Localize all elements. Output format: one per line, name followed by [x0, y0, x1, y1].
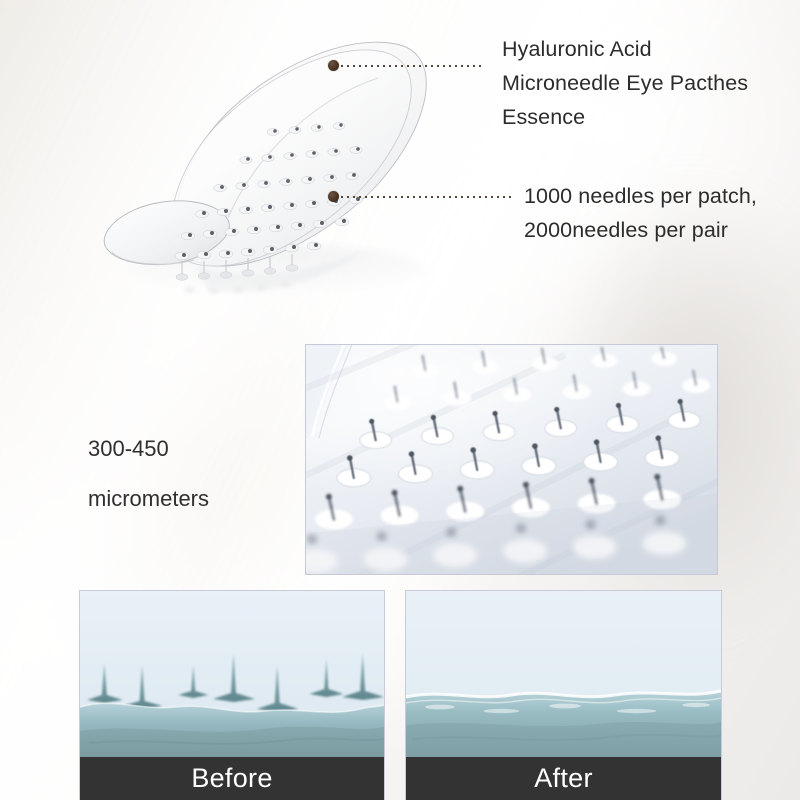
after-scene: [406, 591, 721, 757]
after-label: After: [534, 765, 593, 792]
callout-text-product-name: Hyaluronic Acid Microneedle Eye Pacthes …: [502, 32, 748, 134]
callout-text-needle-count: 1000 needles per patch, 2000needles per …: [524, 179, 757, 247]
comparison-panel-before: Before: [79, 590, 385, 800]
macro-photo-panel: [305, 344, 718, 575]
needle-length-label: 300-450 micrometers: [88, 424, 209, 524]
callout-leader-line-needle-count: [341, 196, 513, 198]
before-scene: [80, 591, 384, 757]
callout-dot-needle-count: [328, 191, 339, 202]
callout-leader-line-product-name: [341, 65, 483, 67]
comparison-panel-after: After: [405, 590, 722, 800]
hero-product-image: [78, 14, 498, 304]
infographic-page: Hyaluronic Acid Microneedle Eye Pacthes …: [0, 0, 800, 800]
callout-dot-product-name: [328, 60, 339, 71]
before-label: Before: [191, 765, 272, 792]
before-label-bar: Before: [80, 757, 384, 800]
after-label-bar: After: [406, 757, 721, 800]
